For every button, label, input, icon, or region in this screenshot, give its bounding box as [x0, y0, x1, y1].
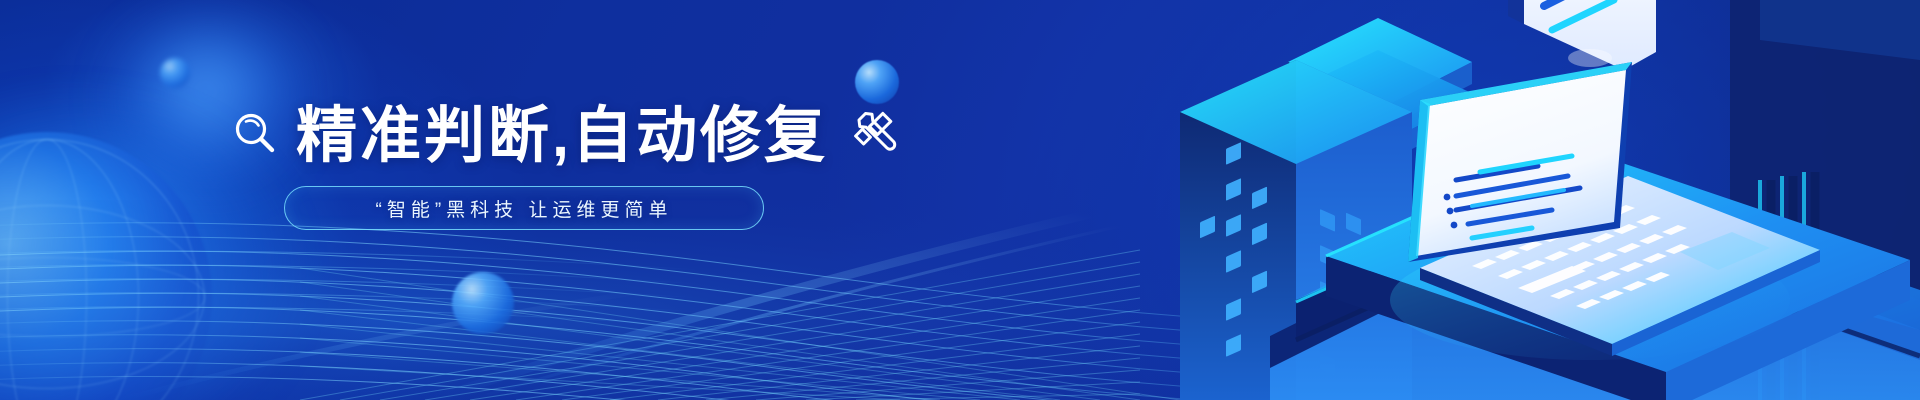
- isometric-illustration: [1120, 0, 1920, 400]
- promo-banner: 精准判断,自动修复 “智能”黑科技 让运维更简单: [0, 0, 1920, 400]
- floating-sphere-icon: [452, 272, 514, 334]
- subtitle-text: “智能”黑科技 让运维更简单: [376, 195, 673, 222]
- headline-text: 精准判断,自动修复: [296, 103, 828, 167]
- floating-sphere-icon: [160, 58, 190, 88]
- subtitle-pill: “智能”黑科技 让运维更简单: [284, 186, 764, 230]
- wrench-screwdriver-tools-icon: [846, 105, 902, 166]
- search-magnifier-icon: [232, 110, 278, 161]
- document-card: [1508, 0, 1656, 70]
- headline-block: 精准判断,自动修复: [232, 98, 1092, 172]
